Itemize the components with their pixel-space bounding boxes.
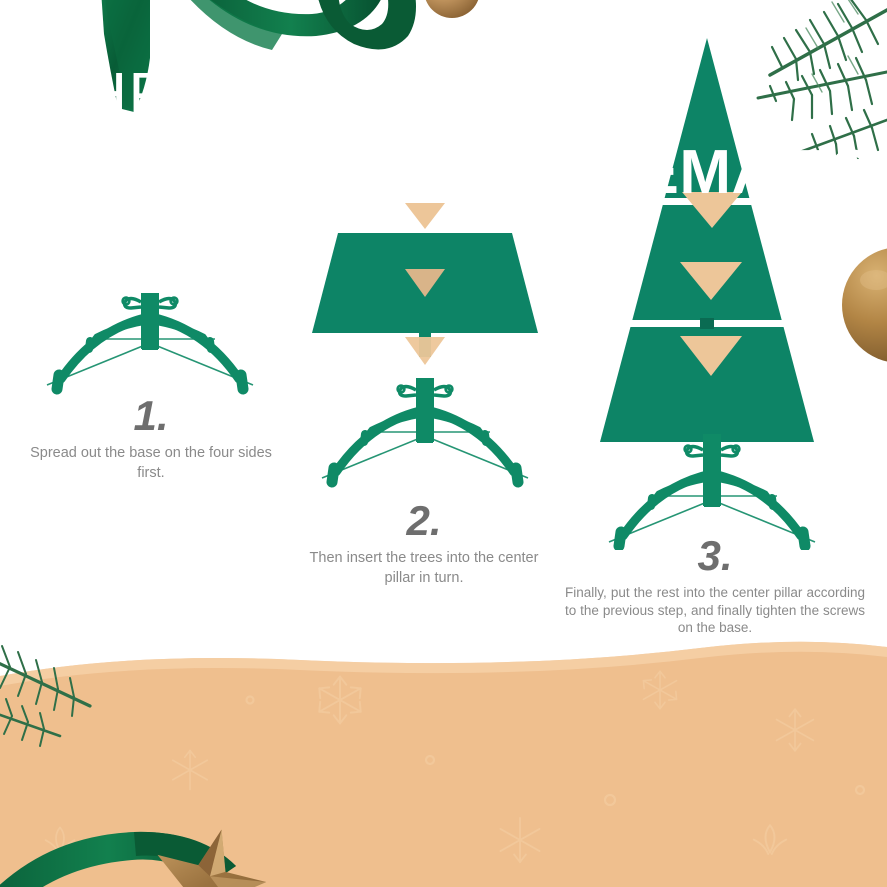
poster-title-line-1: CHRISTMAS TREE [36,65,604,127]
step-3-caption: Finally, put the rest into the center pi… [565,584,865,637]
step-2-number: 2. [295,500,553,542]
green-ribbon-bottom-icon [0,832,236,887]
step-1-number: 1. [22,395,280,437]
tan-banner-shape [0,642,887,887]
poster-canvas: 1. Spread out the base on the four sides… [0,0,887,887]
pine-branch-bottom-left-icon [0,646,90,746]
step-3: 3. Finally, put the rest into the center… [565,535,865,637]
banner-title-block: CHRISTMAS TREE INSTALLATION SCHEMATIC [0,0,887,257]
step-3-number: 3. [565,535,865,577]
step-2: 2. Then insert the trees into the center… [295,500,553,588]
step-2-caption: Then insert the trees into the center pi… [295,549,553,588]
step-1: 1. Spread out the base on the four sides… [22,395,280,483]
poster-title-line-2: INSTALLATION SCHEMATIC [36,142,874,204]
gold-star-bottom-icon [141,816,276,887]
step-1-caption: Spread out the base on the four sides fi… [22,444,280,483]
